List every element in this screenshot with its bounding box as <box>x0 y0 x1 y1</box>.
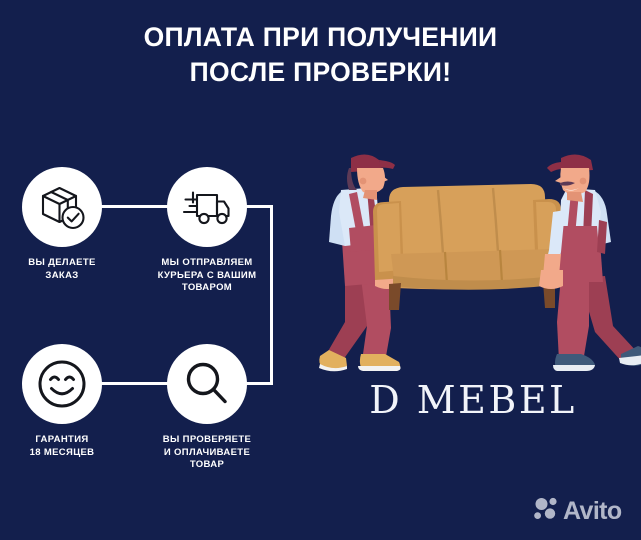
step-label-line-2: ЗАКАЗ <box>0 270 142 283</box>
step-label: МЫ ОТПРАВЛЯЕМ КУРЬЕРА С ВАШИМ ТОВАРОМ <box>127 257 287 295</box>
avito-dots-icon <box>534 496 559 526</box>
step-icon-circle <box>22 344 102 424</box>
process-step-order: ВЫ ДЕЛАЕТЕ ЗАКАЗ <box>0 167 142 282</box>
step-label-line-3: ТОВАРОМ <box>127 282 287 295</box>
step-icon-circle <box>167 344 247 424</box>
step-label-line-1: ГАРАНТИЯ <box>0 434 142 447</box>
brand-logo: D MEBEL <box>305 378 641 422</box>
step-label-line-1: ВЫ ПРОВЕРЯЕТЕ <box>127 434 287 447</box>
step-label: ГАРАНТИЯ 18 МЕСЯЦЕВ <box>0 434 142 459</box>
avito-watermark: Avito <box>534 496 622 526</box>
process-infographic: ВЫ ДЕЛАЕТЕ ЗАКАЗ <box>0 0 330 540</box>
step-label-line-1: МЫ ОТПРАВЛЯЕМ <box>127 257 287 270</box>
step-icon-circle <box>22 167 102 247</box>
step-label-line-3: ТОВАР <box>127 459 287 472</box>
process-step-inspect-pay: ВЫ ПРОВЕРЯЕТЕ И ОПЛАЧИВАЕТЕ ТОВАР <box>127 344 287 472</box>
step-label-line-2: 18 МЕСЯЦЕВ <box>0 447 142 460</box>
magnifying-glass-icon <box>181 358 233 410</box>
advertisement-banner: ОПЛАТА ПРИ ПОЛУЧЕНИИ ПОСЛЕ ПРОВЕРКИ! <box>0 0 641 540</box>
avito-wordmark: Avito <box>563 499 622 524</box>
step-label: ВЫ ДЕЛАЕТЕ ЗАКАЗ <box>0 257 142 282</box>
step-icon-circle <box>167 167 247 247</box>
step-label-line-1: ВЫ ДЕЛАЕТЕ <box>0 257 142 270</box>
step-label-line-2: И ОПЛАЧИВАЕТЕ <box>127 447 287 460</box>
step-label: ВЫ ПРОВЕРЯЕТЕ И ОПЛАЧИВАЕТЕ ТОВАР <box>127 434 287 472</box>
process-step-courier: МЫ ОТПРАВЛЯЕМ КУРЬЕРА С ВАШИМ ТОВАРОМ <box>127 167 287 295</box>
step-label-line-2: КУРЬЕРА С ВАШИМ <box>127 270 287 283</box>
package-check-icon <box>36 181 88 233</box>
process-step-warranty: ГАРАНТИЯ 18 МЕСЯЦЕВ <box>0 344 142 459</box>
smiley-face-icon <box>35 357 89 411</box>
delivery-truck-icon <box>180 180 234 234</box>
movers-illustration <box>305 150 641 390</box>
